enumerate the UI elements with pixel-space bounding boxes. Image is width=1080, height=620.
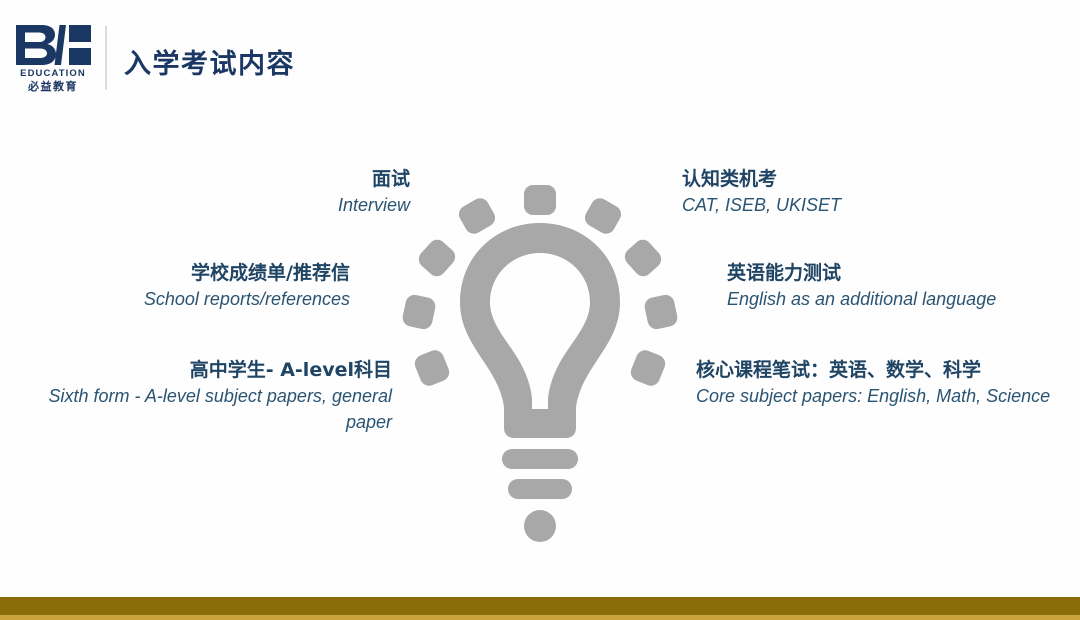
brand-logo: EDUCATION 必益教育 bbox=[14, 24, 92, 92]
callout-cognitive-tests-en: CAT, ISEB, UKISET bbox=[682, 192, 1072, 218]
callout-interview-cn: 面试 bbox=[40, 166, 410, 192]
logo-chinese-name: 必益教育 bbox=[14, 80, 92, 93]
callout-sixth-form-en: Sixth form - A-level subject papers, gen… bbox=[30, 383, 392, 435]
callout-sixth-form: 高中学生- A-level科目 Sixth form - A-level sub… bbox=[30, 357, 392, 435]
footer-gold-accent-line bbox=[0, 615, 1080, 620]
callout-sixth-form-cn: 高中学生- A-level科目 bbox=[30, 357, 392, 383]
callout-core-subjects: 核心课程笔试：英语、数学、科学 Core subject papers: Eng… bbox=[696, 357, 1056, 409]
callout-english-proficiency-en: English as an additional language bbox=[727, 286, 1077, 312]
lightbulb-icon bbox=[398, 185, 682, 555]
footer-gold-bar bbox=[0, 597, 1080, 615]
callout-core-subjects-cn: 核心课程笔试：英语、数学、科学 bbox=[696, 357, 1056, 383]
callout-cognitive-tests: 认知类机考 CAT, ISEB, UKISET bbox=[682, 166, 1072, 218]
page-title: 入学考试内容 bbox=[124, 42, 295, 81]
callout-english-proficiency: 英语能力测试 English as an additional language bbox=[727, 260, 1077, 312]
callout-school-reports: 学校成绩单/推荐信 School reports/references bbox=[20, 260, 350, 312]
callout-cognitive-tests-cn: 认知类机考 bbox=[682, 166, 1072, 192]
callout-interview-en: Interview bbox=[40, 192, 410, 218]
bi-e-monogram-icon bbox=[14, 24, 92, 66]
slide-canvas: EDUCATION 必益教育 入学考试内容 面试 Interview 学校成绩单… bbox=[0, 0, 1080, 620]
callout-school-reports-en: School reports/references bbox=[20, 286, 350, 312]
callout-school-reports-cn: 学校成绩单/推荐信 bbox=[20, 260, 350, 286]
callout-core-subjects-en: Core subject papers: English, Math, Scie… bbox=[696, 383, 1056, 409]
callout-english-proficiency-cn: 英语能力测试 bbox=[727, 260, 1077, 286]
header-divider bbox=[105, 26, 107, 90]
slide-header: EDUCATION 必益教育 入学考试内容 bbox=[0, 0, 1080, 110]
callout-interview: 面试 Interview bbox=[40, 166, 410, 218]
logo-wordmark: EDUCATION bbox=[14, 68, 92, 79]
